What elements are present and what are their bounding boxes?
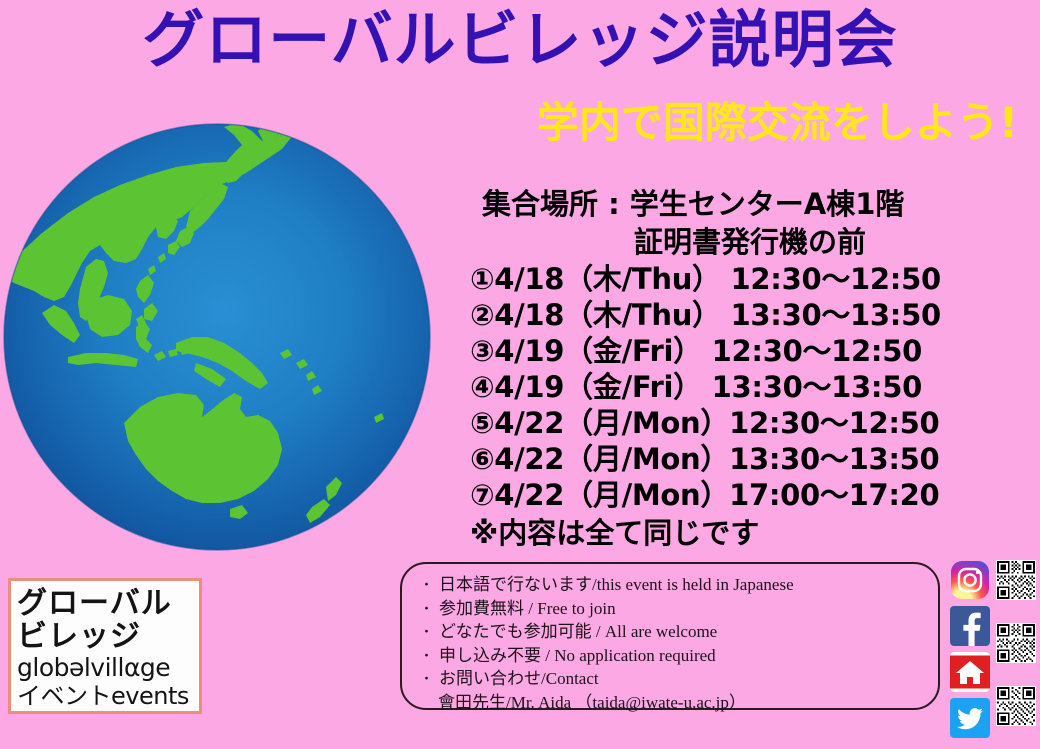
session-item: ⑤4/22（月/Mon）12:30〜12:50 (470, 405, 1030, 441)
session-item: ①4/18（木/Thu） 12:30〜12:50 (470, 261, 1030, 297)
bullet-icon: ・ (420, 620, 433, 644)
facebook-icon[interactable] (950, 606, 990, 646)
location-line-2: 証明書発行機の前 (470, 223, 1030, 261)
info-text: 参加費無料 / Free to join (439, 597, 616, 621)
schedule-note: ※内容は全て同じです (470, 513, 1030, 553)
bullet-icon: ・ (420, 573, 433, 597)
qr-codes (996, 560, 1038, 749)
qr-code-1[interactable] (996, 560, 1036, 600)
info-text: どなたでも参加可能 / All are welcome (439, 620, 717, 644)
page-title: グローバルビレッジ説明会 (0, 4, 1040, 76)
contact-info: 會田先生/Mr. Aida （taida@iwate-u.ac.jp） (420, 691, 930, 715)
social-links (950, 560, 992, 744)
logo-en-line-2: イベントevents (17, 682, 195, 710)
info-text: お問い合わせ/Contact (439, 667, 599, 691)
info-list-item: ・ 参加費無料 / Free to join (420, 597, 930, 621)
info-text: 日本語で行ないます/this event is held in Japanese (439, 573, 794, 597)
global-village-logo: グローバル ビレッジ globəlvillαge イベントevents (8, 578, 202, 714)
session-item: ⑥4/22（月/Mon）13:30〜13:50 (470, 441, 1030, 477)
info-box: ・ 日本語で行ないます/this event is held in Japane… (400, 562, 940, 710)
logo-jp-line-2: ビレッジ (17, 620, 195, 653)
instagram-icon[interactable] (950, 560, 990, 600)
session-item: ③4/19（金/Fri） 12:30〜12:50 (470, 333, 1030, 369)
session-item: ②4/18（木/Thu） 13:30〜13:50 (470, 297, 1030, 333)
session-item: ⑦4/22（月/Mon）17:00〜17:20 (470, 477, 1030, 513)
info-list-item: ・ お問い合わせ/Contact (420, 667, 930, 691)
location-line-1: 集合場所 : 学生センターA棟1階 (470, 185, 1030, 223)
info-text: 申し込み不要 / No application required (439, 644, 716, 668)
bullet-icon: ・ (420, 597, 433, 621)
twitter-icon[interactable] (950, 698, 990, 738)
logo-jp-line-1: グローバル (17, 587, 195, 620)
qr-code-3[interactable] (996, 686, 1036, 726)
info-list-item: ・ どなたでも参加可能 / All are welcome (420, 620, 930, 644)
qr-code-2[interactable] (996, 623, 1036, 663)
info-list-item: ・ 日本語で行ないます/this event is held in Japane… (420, 573, 930, 597)
globe-illustration (0, 105, 445, 565)
logo-en-line-1: globəlvillαge (17, 653, 195, 682)
poster-root: グローバルビレッジ説明会 学内で国際交流をしよう! (0, 0, 1040, 720)
session-item: ④4/19（金/Fri） 13:30〜13:50 (470, 369, 1030, 405)
bullet-icon: ・ (420, 667, 433, 691)
home-icon[interactable] (950, 652, 990, 692)
info-list-item: ・ 申し込み不要 / No application required (420, 644, 930, 668)
bullet-icon: ・ (420, 644, 433, 668)
schedule-block: 集合場所 : 学生センターA棟1階 証明書発行機の前 ①4/18（木/Thu） … (470, 185, 1030, 553)
